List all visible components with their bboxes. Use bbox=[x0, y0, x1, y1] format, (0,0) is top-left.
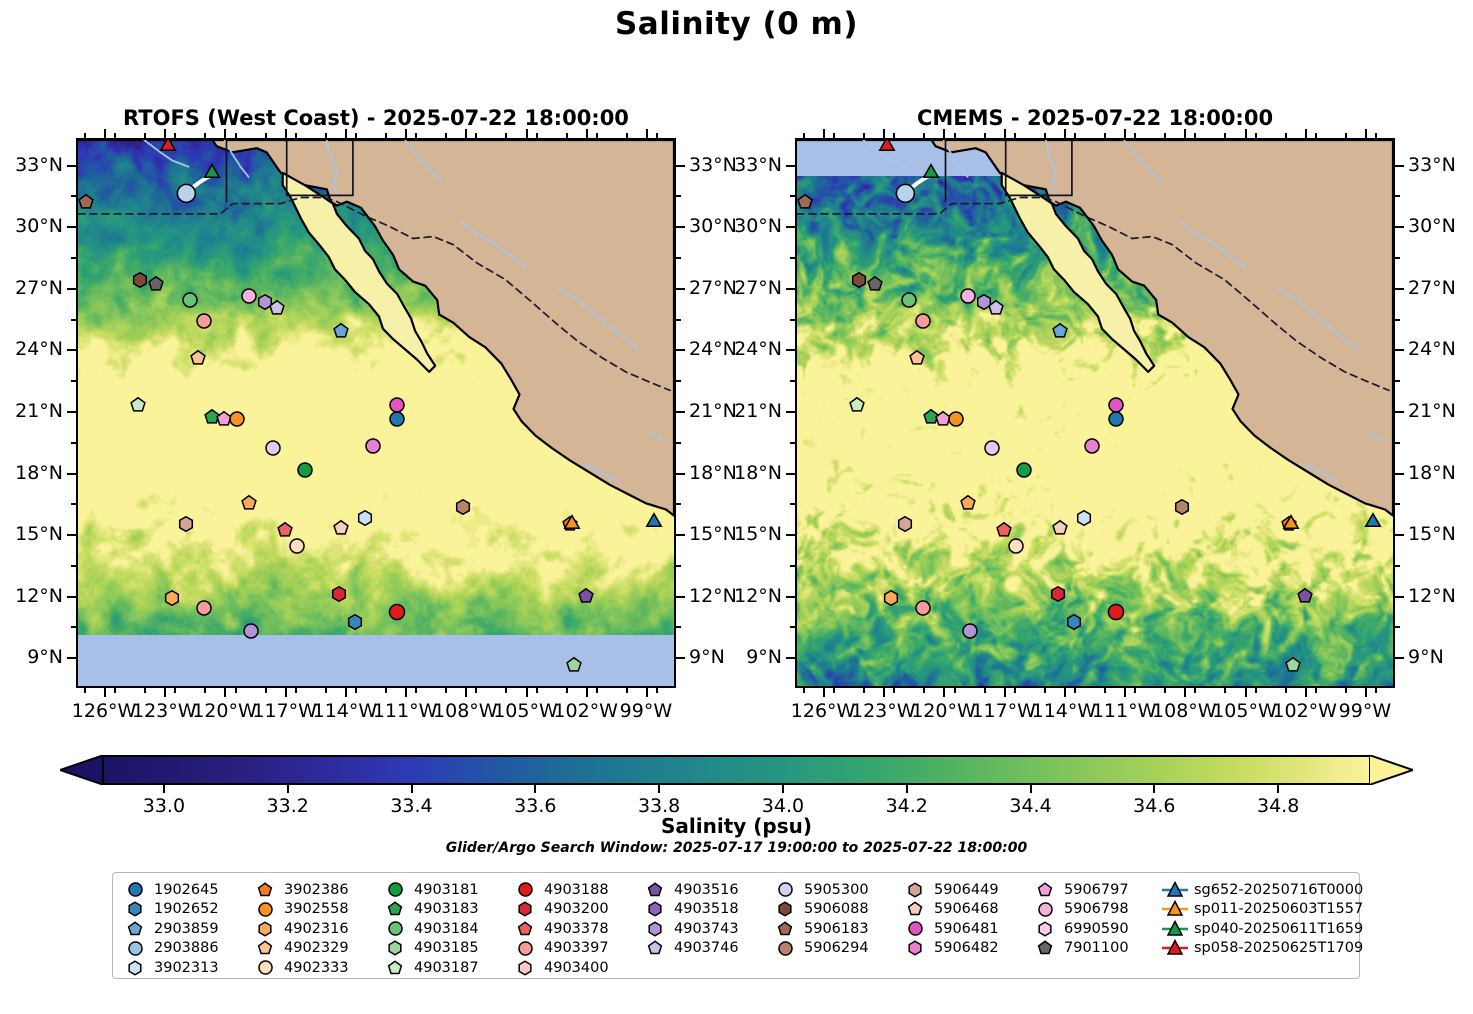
map-marker-3902558[interactable] bbox=[227, 409, 247, 429]
pentagon-marker bbox=[242, 496, 256, 509]
legend-entry-sp011-20250603T1557[interactable]: sp011-20250603T1557 bbox=[1161, 900, 1363, 920]
lat-tick-label: 24°N bbox=[1408, 338, 1456, 360]
lon-tick-minor bbox=[923, 688, 925, 693]
map-marker-3902313[interactable] bbox=[1074, 508, 1093, 527]
map-frame-rtofs[interactable] bbox=[76, 138, 676, 688]
circle-marker bbox=[1017, 463, 1031, 477]
legend-entry-5905300[interactable]: 5905300 bbox=[771, 880, 869, 900]
colorbar-label: Salinity (psu) bbox=[0, 814, 1473, 838]
pentagon-marker bbox=[334, 521, 348, 534]
legend-entry-5906482[interactable]: 5906482 bbox=[901, 939, 999, 959]
legend-entry-4902333[interactable]: 4902333 bbox=[251, 958, 349, 978]
lat-tick bbox=[67, 534, 76, 536]
lat-tick bbox=[786, 596, 795, 598]
circle-marker bbox=[949, 412, 963, 426]
colorbar-tick bbox=[1277, 785, 1279, 793]
pentagon-marker bbox=[1286, 658, 1300, 671]
pentagon-marker bbox=[798, 194, 812, 207]
map-panel-rtofs[interactable]: RTOFS (West Coast) - 2025-07-22 18:00:00… bbox=[76, 138, 676, 688]
map-marker-5905300[interactable] bbox=[982, 438, 1002, 458]
lon-tick-minor bbox=[235, 133, 237, 138]
legend-entry-4903200[interactable]: 4903200 bbox=[511, 900, 609, 920]
map-marker-1902652[interactable] bbox=[345, 613, 364, 632]
lon-tick-label: 114°W bbox=[1032, 700, 1097, 722]
lat-tick-minor bbox=[71, 380, 76, 382]
pentagon-marker bbox=[910, 350, 924, 363]
lon-tick bbox=[1245, 688, 1247, 697]
lon-tick-label: 111°W bbox=[373, 700, 438, 722]
legend-marker-5906468 bbox=[901, 900, 929, 918]
lat-tick-minor bbox=[71, 503, 76, 505]
lon-tick-minor bbox=[114, 688, 116, 693]
legend-entry-1902652[interactable]: 1902652 bbox=[121, 900, 219, 920]
lon-tick-label: 126°W bbox=[791, 700, 856, 722]
map-panel-cmems[interactable]: CMEMS - 2025-07-22 18:00:00 33°N33°N30°N… bbox=[795, 138, 1395, 688]
lat-tick-label: 30°N bbox=[1408, 215, 1456, 237]
map-marker-4903187[interactable] bbox=[848, 395, 867, 414]
map-frame-cmems[interactable] bbox=[795, 138, 1395, 688]
map-marker-3902313[interactable] bbox=[355, 508, 374, 527]
map-marker-7901100[interactable] bbox=[147, 274, 166, 293]
lon-tick bbox=[465, 129, 467, 138]
hexagon-marker bbox=[349, 615, 362, 630]
lon-tick bbox=[1305, 129, 1307, 138]
legend-label: 4903184 bbox=[409, 921, 479, 937]
legend-entry-4903518[interactable]: 4903518 bbox=[641, 900, 739, 920]
map-marker-2903859[interactable] bbox=[331, 321, 350, 340]
legend-label: 4903185 bbox=[409, 940, 479, 956]
lon-tick-minor bbox=[114, 133, 116, 138]
legend-marker-3902313 bbox=[121, 959, 149, 977]
lat-tick-label: 24°N bbox=[689, 338, 737, 360]
legend-entry-5906797[interactable]: 5906797 bbox=[1031, 880, 1129, 900]
lon-tick bbox=[285, 688, 287, 697]
legend-marker-4903183 bbox=[381, 900, 409, 918]
map-marker-4903184[interactable] bbox=[180, 290, 200, 310]
lat-tick-label: 18°N bbox=[734, 462, 782, 484]
lat-tick-label: 9°N bbox=[746, 646, 782, 668]
lat-tick-label: 27°N bbox=[734, 277, 782, 299]
map-marker-4902329[interactable] bbox=[908, 348, 927, 367]
circle-marker bbox=[244, 624, 258, 638]
lon-tick-minor bbox=[1345, 133, 1347, 138]
legend-label: 4903516 bbox=[669, 882, 739, 898]
legend-entry-3902558[interactable]: 3902558 bbox=[251, 900, 349, 920]
map-marker-4903200[interactable] bbox=[329, 584, 348, 603]
map-marker-sp011-20250603T1557[interactable] bbox=[561, 513, 582, 534]
lat-tick-minor bbox=[71, 442, 76, 444]
legend-entry-4902329[interactable]: 4902329 bbox=[251, 939, 349, 959]
lon-tick bbox=[104, 688, 106, 697]
legend-entry-6990590[interactable]: 6990590 bbox=[1031, 919, 1129, 939]
lon-tick-minor bbox=[566, 688, 568, 693]
colorbar-tick bbox=[1153, 785, 1155, 793]
lat-tick-minor bbox=[676, 380, 681, 382]
lon-tick bbox=[883, 129, 885, 138]
map-marker-4903516[interactable] bbox=[1295, 586, 1314, 605]
map-marker-5906482[interactable] bbox=[363, 436, 383, 456]
lon-tick-minor bbox=[1104, 133, 1106, 138]
lon-tick bbox=[943, 129, 945, 138]
map-marker-4903185[interactable] bbox=[1283, 656, 1302, 675]
map-marker-4902316[interactable] bbox=[239, 494, 258, 513]
legend-marker-4903185 bbox=[381, 939, 409, 957]
map-marker-5906294[interactable] bbox=[1173, 498, 1192, 517]
legend-entry-sp040-20250611T1659[interactable]: sp040-20250611T1659 bbox=[1161, 919, 1363, 939]
lat-tick-minor bbox=[1395, 257, 1400, 259]
lat-tick-label: 24°N bbox=[734, 338, 782, 360]
map-marker-4902333[interactable] bbox=[287, 536, 307, 556]
legend-marker-5906183 bbox=[771, 920, 799, 938]
lat-tick-minor bbox=[71, 565, 76, 567]
map-marker-4903188[interactable] bbox=[387, 602, 408, 623]
lon-tick bbox=[1004, 688, 1006, 697]
legend-entry-5906481[interactable]: 5906481 bbox=[901, 919, 999, 939]
colorbar-tick bbox=[782, 785, 784, 793]
circle-marker bbox=[266, 441, 280, 455]
map-marker-4902329b[interactable] bbox=[163, 588, 182, 607]
map-marker-4902333 bbox=[256, 958, 275, 977]
legend-marker-sp011-20250603T1557 bbox=[1161, 900, 1189, 918]
lat-tick bbox=[67, 657, 76, 659]
map-marker-6990590 bbox=[1036, 920, 1054, 938]
lon-tick bbox=[1365, 688, 1367, 697]
lat-tick-label: 18°N bbox=[689, 462, 737, 484]
lon-tick-minor bbox=[893, 133, 895, 138]
map-marker-4903400[interactable] bbox=[194, 598, 214, 618]
map-marker-5906183[interactable] bbox=[797, 192, 815, 211]
map-marker-3902386 bbox=[256, 881, 274, 899]
legend-marker-5906481 bbox=[901, 919, 929, 938]
lon-tick-minor bbox=[923, 133, 925, 138]
lon-tick-minor bbox=[1074, 133, 1076, 138]
map-marker-4903187[interactable] bbox=[129, 395, 148, 414]
map-marker-1902645[interactable] bbox=[387, 409, 407, 429]
lat-tick bbox=[676, 226, 685, 228]
legend-entry-3902313[interactable]: 3902313 bbox=[121, 958, 219, 978]
lat-tick-minor bbox=[71, 626, 76, 628]
triangle-marker bbox=[1366, 513, 1381, 526]
map-marker-4902333[interactable] bbox=[1006, 536, 1026, 556]
legend-marker-sp058-20250625T1709 bbox=[1161, 939, 1189, 957]
legend-entry-5906294[interactable]: 5906294 bbox=[771, 939, 869, 959]
legend-entry-5906183[interactable]: 5906183 bbox=[771, 919, 869, 939]
pentagon-marker bbox=[989, 301, 1003, 314]
lon-tick-minor bbox=[566, 133, 568, 138]
colorbar-gradient bbox=[102, 755, 1371, 785]
lon-tick-minor bbox=[803, 688, 805, 693]
hexagon-marker bbox=[885, 590, 898, 605]
legend-label: 5906482 bbox=[929, 940, 999, 956]
legend-entry-4903400[interactable]: 4903400 bbox=[511, 958, 609, 978]
lon-tick bbox=[586, 688, 588, 697]
lon-tick-minor bbox=[475, 133, 477, 138]
lon-tick-minor bbox=[295, 133, 297, 138]
pentagon-marker bbox=[779, 922, 792, 934]
lon-tick-minor bbox=[1194, 133, 1196, 138]
lon-tick bbox=[883, 688, 885, 697]
lat-tick bbox=[676, 349, 685, 351]
lat-tick-minor bbox=[676, 503, 681, 505]
map-marker-4902329[interactable] bbox=[189, 348, 208, 367]
lon-tick-label: 117°W bbox=[252, 700, 317, 722]
legend-entry-sg652-20250716T0000[interactable]: sg652-20250716T0000 bbox=[1161, 880, 1363, 900]
legend-column: 49031814903183490318449031854903187 bbox=[381, 880, 479, 978]
lon-tick-minor bbox=[84, 688, 86, 693]
lon-tick-minor bbox=[475, 688, 477, 693]
circle-marker bbox=[1039, 903, 1052, 916]
map-marker-7901100 bbox=[1036, 939, 1054, 957]
map-marker-sp011-20250603T1557[interactable] bbox=[1280, 513, 1301, 534]
triangle-marker bbox=[924, 164, 939, 177]
map-marker-4902329b[interactable] bbox=[882, 588, 901, 607]
map-marker-4903518[interactable] bbox=[960, 621, 980, 641]
legend-marker-3902558 bbox=[251, 900, 279, 919]
circle-marker bbox=[197, 601, 211, 615]
lon-tick-minor bbox=[355, 688, 357, 693]
lat-tick bbox=[67, 165, 76, 167]
lat-tick bbox=[67, 473, 76, 475]
lon-tick-minor bbox=[1074, 688, 1076, 693]
map-marker-5906482[interactable] bbox=[1082, 436, 1102, 456]
map-marker-1902652[interactable] bbox=[1064, 613, 1083, 632]
legend-entry-3902386[interactable]: 3902386 bbox=[251, 880, 349, 900]
hexagon-marker bbox=[899, 517, 912, 532]
pentagon-marker bbox=[1039, 883, 1052, 895]
colorbar[interactable]: 33.033.233.433.633.834.034.234.434.634.8 bbox=[60, 755, 1413, 785]
map-marker-4903185[interactable] bbox=[564, 656, 583, 675]
legend-entry-2903859[interactable]: 2903859 bbox=[121, 919, 219, 939]
map-marker-2903859[interactable] bbox=[1050, 321, 1069, 340]
hexagon-marker bbox=[129, 961, 141, 974]
circle-marker bbox=[916, 314, 930, 328]
legend-entry-4903746[interactable]: 4903746 bbox=[641, 939, 739, 959]
map-marker-sp040-20250611T1659[interactable] bbox=[921, 162, 942, 183]
lon-tick-minor bbox=[984, 133, 986, 138]
circle-marker bbox=[129, 883, 142, 896]
legend-entry-4903188[interactable]: 4903188 bbox=[511, 880, 609, 900]
map-marker-4903181 bbox=[386, 880, 405, 899]
map-marker-sg652-20250716T0000[interactable] bbox=[643, 511, 664, 532]
lon-tick-minor bbox=[863, 133, 865, 138]
map-marker-sg652-20250716T0000[interactable] bbox=[1362, 511, 1383, 532]
lat-tick-label: 24°N bbox=[15, 338, 63, 360]
legend-entry-5906798[interactable]: 5906798 bbox=[1031, 900, 1129, 920]
legend-entry-4903183[interactable]: 4903183 bbox=[381, 900, 479, 920]
map-marker-3902558[interactable] bbox=[946, 409, 966, 429]
hexagon-marker bbox=[333, 586, 346, 601]
lat-tick-label: 27°N bbox=[689, 277, 737, 299]
map-marker-5906449[interactable] bbox=[177, 514, 196, 533]
legend-marker-6990590 bbox=[1031, 920, 1059, 938]
lat-tick bbox=[786, 226, 795, 228]
lat-tick bbox=[1395, 288, 1404, 290]
hexagon-marker bbox=[649, 903, 661, 916]
lon-tick-label: 123°W bbox=[132, 700, 197, 722]
legend-column: 5905300590608859061835906294 bbox=[771, 880, 869, 958]
map-marker-5906468[interactable] bbox=[1050, 518, 1069, 537]
legend-entry-7901100[interactable]: 7901100 bbox=[1031, 939, 1129, 959]
map-marker-4903516[interactable] bbox=[576, 586, 595, 605]
lon-tick-minor bbox=[355, 133, 357, 138]
pentagon-marker bbox=[1039, 942, 1052, 954]
hexagon-marker bbox=[853, 272, 866, 287]
map-marker-4903378 bbox=[516, 920, 534, 938]
pentagon-marker bbox=[649, 883, 662, 895]
pentagon-marker bbox=[1053, 521, 1067, 534]
lat-tick-label: 33°N bbox=[734, 154, 782, 176]
legend-entry-4903516[interactable]: 4903516 bbox=[641, 880, 739, 900]
legend-marker-4903397 bbox=[511, 939, 539, 958]
lon-tick bbox=[405, 129, 407, 138]
map-marker-5906468[interactable] bbox=[331, 518, 350, 537]
lat-tick bbox=[676, 534, 685, 536]
legend-entry-4903378[interactable]: 4903378 bbox=[511, 919, 609, 939]
circle-marker bbox=[298, 463, 312, 477]
legend-marker-5906798 bbox=[1031, 900, 1059, 919]
legend-entry-4903181[interactable]: 4903181 bbox=[381, 880, 479, 900]
lon-tick-minor bbox=[954, 133, 956, 138]
legend-entry-5906449[interactable]: 5906449 bbox=[901, 880, 999, 900]
pentagon-marker bbox=[278, 523, 292, 536]
map-marker-4903397[interactable] bbox=[194, 311, 214, 331]
lat-tick-label: 33°N bbox=[1408, 154, 1456, 176]
lat-tick-minor bbox=[790, 626, 795, 628]
circle-marker bbox=[389, 883, 402, 896]
map-marker-4903518 bbox=[646, 900, 664, 918]
map-marker-4903518[interactable] bbox=[241, 621, 261, 641]
map-marker-7901100[interactable] bbox=[866, 274, 885, 293]
lon-tick-label: 114°W bbox=[313, 700, 378, 722]
map-marker-1902645[interactable] bbox=[1106, 409, 1126, 429]
lat-tick-label: 27°N bbox=[15, 277, 63, 299]
legend-label: 5906183 bbox=[799, 921, 869, 937]
lon-tick bbox=[1184, 129, 1186, 138]
map-marker-4903184[interactable] bbox=[899, 290, 919, 310]
map-marker-sp040-20250611T1659[interactable] bbox=[202, 162, 223, 183]
legend-label: sg652-20250716T0000 bbox=[1189, 882, 1363, 898]
lon-tick-label: 102°W bbox=[1272, 700, 1337, 722]
circle-marker bbox=[916, 601, 930, 615]
hexagon-marker bbox=[909, 942, 921, 955]
lat-tick-minor bbox=[1395, 565, 1400, 567]
legend-entry-4903184[interactable]: 4903184 bbox=[381, 919, 479, 939]
lat-tick bbox=[786, 657, 795, 659]
lon-tick-minor bbox=[325, 688, 327, 693]
hexagon-marker bbox=[389, 942, 401, 955]
triangle-marker bbox=[647, 513, 662, 526]
legend-label: sp040-20250611T1659 bbox=[1189, 921, 1363, 937]
legend-entry-2903886[interactable]: 2903886 bbox=[121, 939, 219, 959]
map-marker-5906449[interactable] bbox=[896, 514, 915, 533]
lon-tick-label: 126°W bbox=[72, 700, 137, 722]
legend-label: 3902558 bbox=[279, 901, 349, 917]
map-marker-5906183[interactable] bbox=[78, 192, 96, 211]
legend-label: 4902333 bbox=[279, 960, 349, 976]
legend-marker-2903886 bbox=[121, 939, 149, 958]
map-marker-4903200[interactable] bbox=[1048, 584, 1067, 603]
hexagon-marker bbox=[359, 510, 372, 525]
lon-tick bbox=[526, 688, 528, 697]
map-marker-4903746[interactable] bbox=[267, 299, 286, 318]
lat-tick-label: 21°N bbox=[15, 400, 63, 422]
map-marker-sp058-20250625T1709[interactable] bbox=[158, 140, 179, 157]
lon-tick-label: 108°W bbox=[1152, 700, 1217, 722]
map-marker-4903400[interactable] bbox=[913, 598, 933, 618]
lon-tick-minor bbox=[596, 133, 598, 138]
triangle-marker bbox=[564, 515, 579, 528]
lon-tick-label: 108°W bbox=[433, 700, 498, 722]
lat-tick bbox=[67, 226, 76, 228]
map-marker-4902316 bbox=[256, 920, 274, 938]
map-marker-4903181[interactable] bbox=[295, 460, 315, 480]
legend-column: 4903516490351849037434903746 bbox=[641, 880, 739, 958]
map-marker-4903188[interactable] bbox=[1106, 602, 1127, 623]
legend-label: 1902645 bbox=[149, 882, 219, 898]
legend-label: 3902313 bbox=[149, 960, 219, 976]
lon-tick-label: 111°W bbox=[1092, 700, 1157, 722]
legend-marker-4903378 bbox=[511, 920, 539, 938]
legend-entry-4902316[interactable]: 4902316 bbox=[251, 919, 349, 939]
legend-entry-4903185[interactable]: 4903185 bbox=[381, 939, 479, 959]
lat-tick-minor bbox=[676, 319, 681, 321]
legend-marker-7901100 bbox=[1031, 939, 1059, 957]
legend-entry-1902645[interactable]: 1902645 bbox=[121, 880, 219, 900]
map-marker-5906294[interactable] bbox=[454, 498, 473, 517]
lat-tick-minor bbox=[1395, 319, 1400, 321]
legend-entry-4903187[interactable]: 4903187 bbox=[381, 958, 479, 978]
pentagon-marker bbox=[850, 398, 864, 411]
lat-tick-label: 9°N bbox=[689, 646, 725, 668]
legend-entry-4903743[interactable]: 4903743 bbox=[641, 919, 739, 939]
map-marker-5905300[interactable] bbox=[263, 438, 283, 458]
lon-tick-label: 99°W bbox=[1339, 700, 1391, 722]
lat-tick bbox=[676, 596, 685, 598]
lon-tick-label: 105°W bbox=[1212, 700, 1277, 722]
lat-tick bbox=[786, 534, 795, 536]
legend-entry-sp058-20250625T1709[interactable]: sp058-20250625T1709 bbox=[1161, 939, 1363, 959]
glider-track-endpoint[interactable] bbox=[177, 184, 195, 202]
map-marker-4902316[interactable] bbox=[958, 494, 977, 513]
map-marker-4903397[interactable] bbox=[913, 311, 933, 331]
hexagon-marker bbox=[519, 961, 531, 974]
lon-tick-minor bbox=[1315, 688, 1317, 693]
map-marker-4903746[interactable] bbox=[986, 299, 1005, 318]
legend-label: 5905300 bbox=[799, 882, 869, 898]
legend[interactable]: 1902645190265229038592903886390231339023… bbox=[112, 872, 1360, 979]
circle-marker bbox=[519, 942, 532, 955]
lon-tick bbox=[1124, 688, 1126, 697]
glider-track-endpoint[interactable] bbox=[896, 184, 914, 202]
lon-tick-minor bbox=[144, 133, 146, 138]
map-marker-sp058-20250625T1709[interactable] bbox=[877, 140, 898, 157]
legend-column: 5906449590646859064815906482 bbox=[901, 880, 999, 958]
colorbar-extend-high bbox=[1369, 755, 1413, 785]
map-marker-4903184 bbox=[386, 919, 405, 938]
legend-entry-5906468[interactable]: 5906468 bbox=[901, 900, 999, 920]
map-marker-5906798 bbox=[1036, 900, 1055, 919]
legend-entry-4903397[interactable]: 4903397 bbox=[511, 939, 609, 959]
lat-tick-minor bbox=[1395, 380, 1400, 382]
lat-tick-minor bbox=[676, 257, 681, 259]
map-marker-4903181[interactable] bbox=[1014, 460, 1034, 480]
triangle-marker bbox=[880, 140, 895, 150]
lon-tick-minor bbox=[1315, 133, 1317, 138]
lon-tick bbox=[345, 129, 347, 138]
legend-entry-5906088[interactable]: 5906088 bbox=[771, 900, 869, 920]
map-marker-4903397 bbox=[516, 939, 535, 958]
legend-label: 5906088 bbox=[799, 901, 869, 917]
